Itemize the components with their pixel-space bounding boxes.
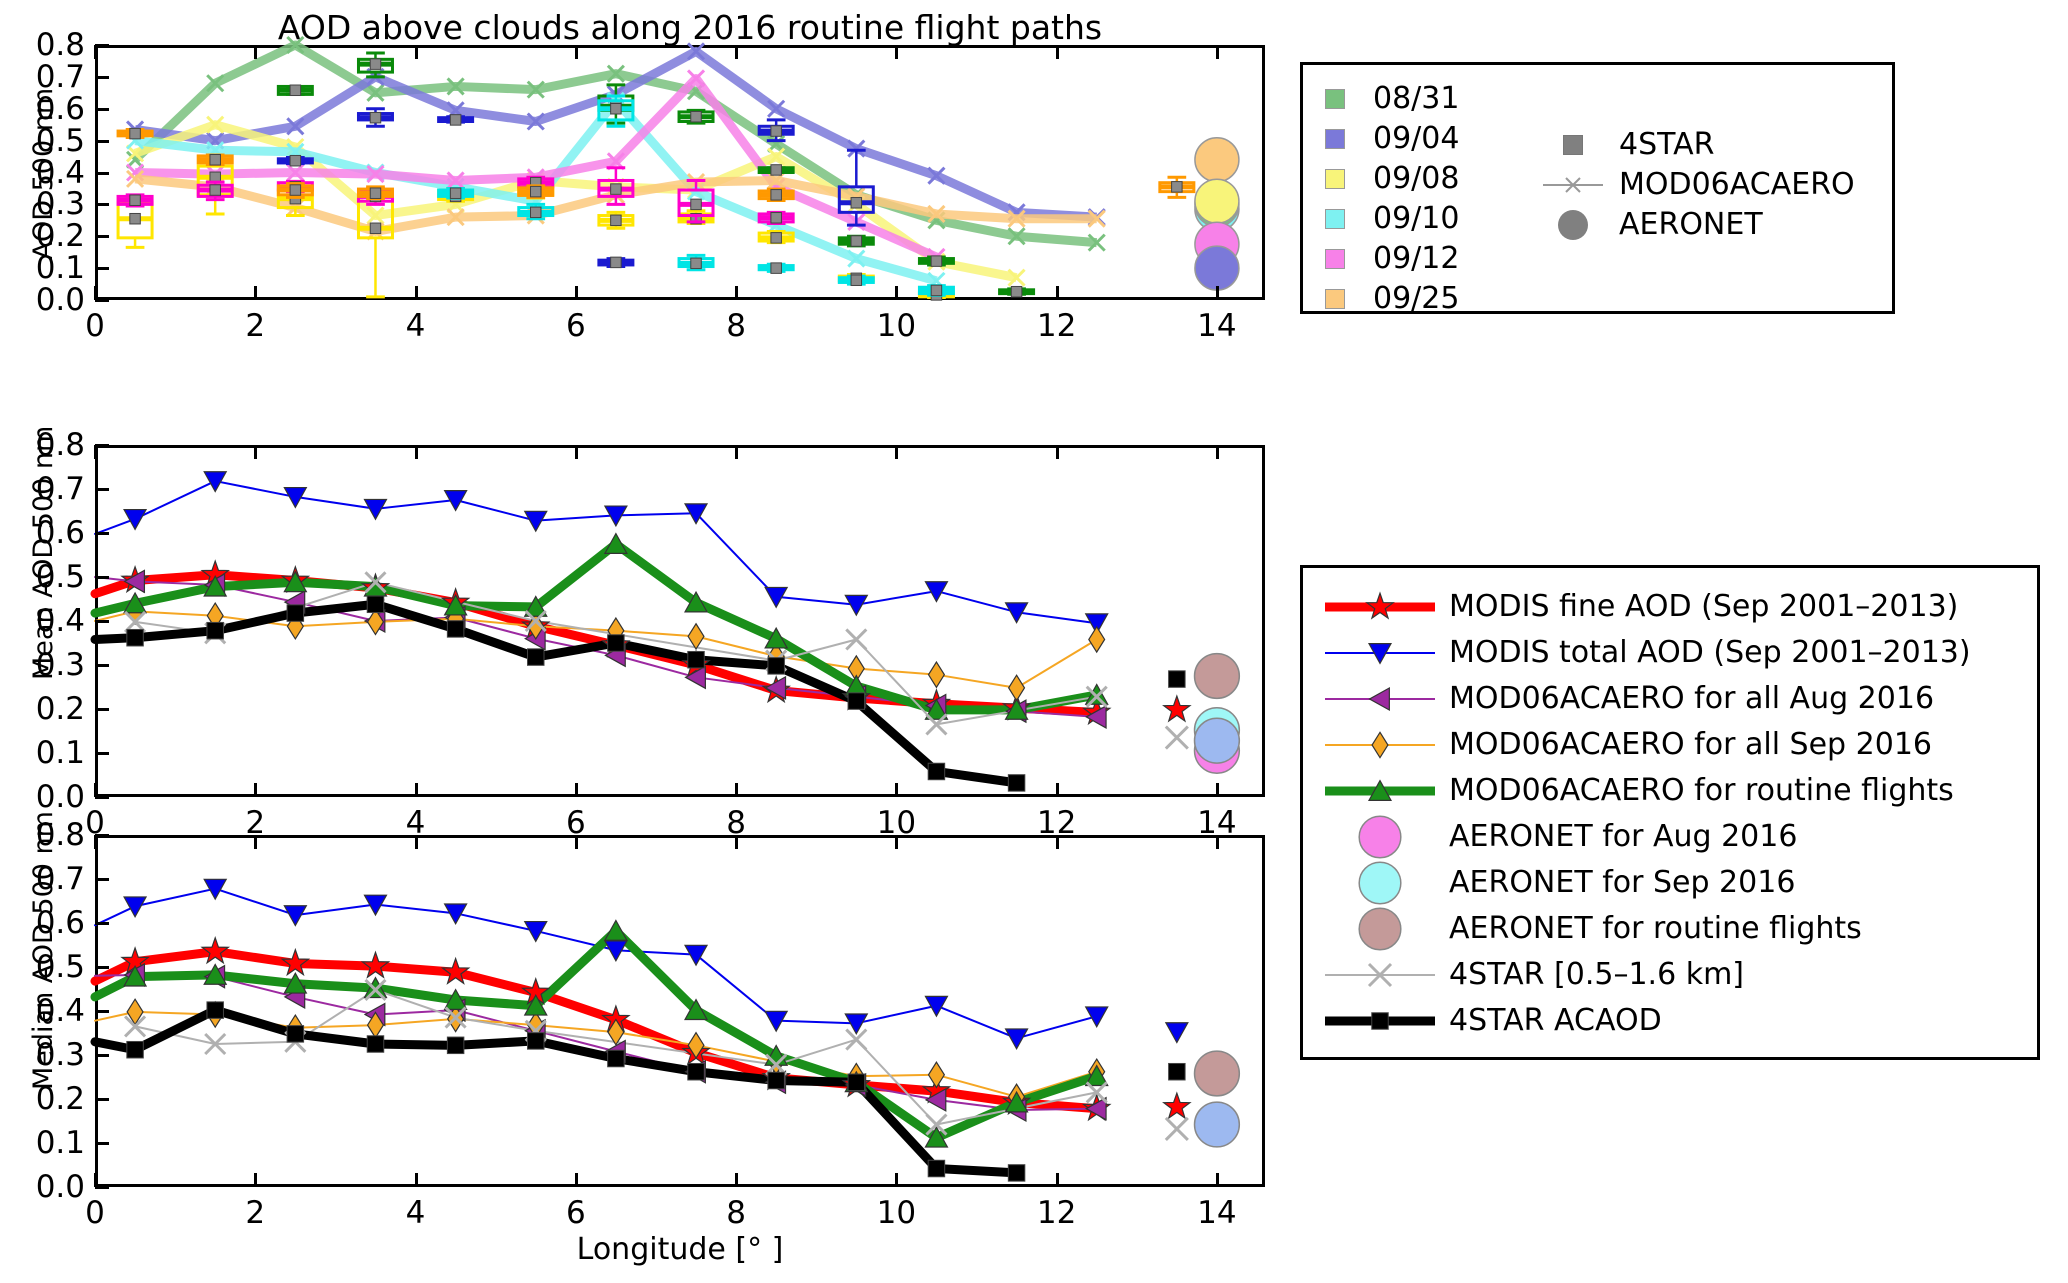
x-tick-mark <box>415 286 418 300</box>
y-tick-mark <box>95 44 109 47</box>
legend-dates-box: 08/3109/0409/0809/1009/1209/25 4STARMOD0… <box>1300 62 1895 314</box>
legend-main-label: 4STAR [0.5–1.6 km] <box>1449 960 1744 990</box>
legend-date-item[interactable]: 09/08 <box>1325 159 1459 199</box>
x-tick-label: 6 <box>566 1195 586 1231</box>
panel-b-ylabel: Mean AOD 500 nm <box>28 426 59 680</box>
legend-color-swatch <box>1325 169 1345 189</box>
y-tick-label: 0.5 <box>5 123 85 159</box>
x-tick-label: 10 <box>877 1195 916 1231</box>
y-tick-label: 0.3 <box>5 1037 85 1073</box>
legend-main-label: MODIS total AOD (Sep 2001–2013) <box>1449 638 1971 668</box>
y-tick-mark <box>95 1142 109 1145</box>
x-tick-mark <box>1056 1173 1059 1187</box>
y-tick-mark <box>95 1186 109 1189</box>
y-tick-mark <box>95 796 109 799</box>
legend-main-item[interactable]: MOD06ACAERO for routine flights <box>1321 768 1971 814</box>
y-tick-mark <box>95 1054 109 1057</box>
legend-date-label: 09/10 <box>1373 204 1459 234</box>
x-tick-label: 2 <box>245 1195 265 1231</box>
y-tick-mark <box>95 664 109 667</box>
x-tick-mark <box>254 286 257 300</box>
x-tick-label: 14 <box>1197 1195 1236 1231</box>
x-tick-label: 8 <box>726 1195 746 1231</box>
y-tick-label: 0.1 <box>5 735 85 771</box>
y-tick-label: 0.0 <box>5 779 85 815</box>
x-tick-mark <box>895 445 898 459</box>
x-tick-mark <box>415 445 418 459</box>
x-tick-mark <box>575 783 578 797</box>
y-tick-mark <box>95 532 109 535</box>
x-tick-mark <box>575 45 578 59</box>
x-tick-mark <box>94 835 97 849</box>
y-tick-label: 0.3 <box>5 647 85 683</box>
legend-main-item[interactable]: MODIS fine AOD (Sep 2001–2013) <box>1321 584 1971 630</box>
y-tick-label: 0.5 <box>5 559 85 595</box>
x-tick-mark <box>415 835 418 849</box>
x-tick-label: 14 <box>1197 308 1236 344</box>
y-tick-label: 0.1 <box>5 1125 85 1161</box>
legend-instruments-column: 4STARMOD06ACAEROAERONET <box>1541 125 1855 245</box>
y-tick-mark <box>95 108 109 111</box>
y-tick-label: 0.2 <box>5 691 85 727</box>
legend-dates-column: 08/3109/0409/0809/1009/1209/25 <box>1325 79 1459 319</box>
y-tick-mark <box>95 834 109 837</box>
circle-marker-icon <box>1321 866 1439 900</box>
y-tick-mark <box>95 620 109 623</box>
y-tick-mark <box>95 922 109 925</box>
x-tick-mark <box>735 445 738 459</box>
diamond-marker-icon <box>1321 728 1439 762</box>
x-tick-mark <box>575 835 578 849</box>
panel-a-canvas <box>95 45 1265 300</box>
x-tick-mark <box>735 783 738 797</box>
star-marker-icon <box>1321 590 1439 624</box>
y-tick-label: 0.2 <box>5 1081 85 1117</box>
x-line-marker-icon <box>1541 175 1605 195</box>
x-tick-mark <box>895 286 898 300</box>
y-tick-mark <box>95 752 109 755</box>
legend-date-label: 09/25 <box>1373 284 1459 314</box>
triangle-up-marker-icon <box>1321 774 1439 808</box>
legend-main-item[interactable]: MOD06ACAERO for all Aug 2016 <box>1321 676 1971 722</box>
legend-color-swatch <box>1325 89 1345 109</box>
panel-b-canvas <box>95 445 1265 797</box>
legend-instrument-item[interactable]: MOD06ACAERO <box>1541 165 1855 205</box>
legend-date-label: 09/04 <box>1373 124 1459 154</box>
x-tick-label: 2 <box>245 308 265 344</box>
legend-color-swatch <box>1325 249 1345 269</box>
y-tick-label: 0.6 <box>5 91 85 127</box>
triangle-left-marker-icon <box>1321 682 1439 716</box>
legend-color-swatch <box>1325 209 1345 229</box>
x-tick-mark <box>1216 835 1219 849</box>
y-tick-mark <box>95 203 109 206</box>
x-tick-label: 0 <box>85 1195 105 1231</box>
legend-date-item[interactable]: 09/12 <box>1325 239 1459 279</box>
y-tick-label: 0.7 <box>5 59 85 95</box>
legend-main-item[interactable]: MODIS total AOD (Sep 2001–2013) <box>1321 630 1971 676</box>
legend-main-item[interactable]: AERONET for Sep 2016 <box>1321 860 1971 906</box>
legend-date-label: 09/12 <box>1373 244 1459 274</box>
x-marker-icon <box>1321 958 1439 992</box>
y-tick-mark <box>95 76 109 79</box>
x-tick-mark <box>895 45 898 59</box>
legend-date-item[interactable]: 08/31 <box>1325 79 1459 119</box>
x-tick-mark <box>735 45 738 59</box>
y-tick-mark <box>95 708 109 711</box>
y-tick-mark <box>95 235 109 238</box>
y-tick-mark <box>95 299 109 302</box>
legend-main-label: MOD06ACAERO for routine flights <box>1449 776 1954 806</box>
figure-root: AOD above clouds along 2016 routine flig… <box>0 0 2068 1283</box>
x-tick-label: 12 <box>1037 1195 1076 1231</box>
x-tick-label: 4 <box>406 1195 426 1231</box>
x-tick-mark <box>1056 835 1059 849</box>
legend-main-label: AERONET for Sep 2016 <box>1449 868 1795 898</box>
figure-title: AOD above clouds along 2016 routine flig… <box>110 8 1270 47</box>
circle-marker-icon <box>1321 820 1439 854</box>
y-tick-label: 0.6 <box>5 905 85 941</box>
x-tick-mark <box>1216 286 1219 300</box>
x-tick-mark <box>415 783 418 797</box>
legend-main-label: 4STAR ACAOD <box>1449 1006 1662 1036</box>
legend-main-label: AERONET for routine flights <box>1449 914 1862 944</box>
x-tick-mark <box>895 783 898 797</box>
x-tick-label: 0 <box>85 308 105 344</box>
y-tick-mark <box>95 878 109 881</box>
circle-marker-icon <box>1541 210 1605 240</box>
x-tick-mark <box>94 45 97 59</box>
y-tick-mark <box>95 1010 109 1013</box>
legend-main-list: MODIS fine AOD (Sep 2001–2013)MODIS tota… <box>1321 584 1971 1044</box>
x-tick-mark <box>1056 783 1059 797</box>
y-tick-label: 0.6 <box>5 515 85 551</box>
legend-instrument-item[interactable]: 4STAR <box>1541 125 1855 165</box>
legend-instrument-item[interactable]: AERONET <box>1541 205 1855 245</box>
x-tick-label: 4 <box>406 308 426 344</box>
legend-instrument-label: 4STAR <box>1619 130 1715 160</box>
x-tick-mark <box>895 1173 898 1187</box>
y-tick-label: 0.0 <box>5 1169 85 1205</box>
triangle-down-marker-icon <box>1321 636 1439 670</box>
x-tick-mark <box>1056 286 1059 300</box>
y-tick-label: 0.8 <box>5 27 85 63</box>
x-tick-mark <box>254 835 257 849</box>
y-tick-label: 0.8 <box>5 427 85 463</box>
y-tick-label: 0.7 <box>5 471 85 507</box>
panel-c-canvas <box>95 835 1265 1187</box>
y-tick-mark <box>95 966 109 969</box>
y-tick-mark <box>95 444 109 447</box>
legend-main-item[interactable]: AERONET for Aug 2016 <box>1321 814 1971 860</box>
y-tick-label: 0.3 <box>5 186 85 222</box>
x-tick-mark <box>1216 45 1219 59</box>
y-tick-label: 0.4 <box>5 155 85 191</box>
circle-marker-icon <box>1321 912 1439 946</box>
legend-main-label: AERONET for Aug 2016 <box>1449 822 1797 852</box>
x-tick-label: 6 <box>566 308 586 344</box>
x-tick-mark <box>94 783 97 797</box>
legend-main-item[interactable]: MOD06ACAERO for all Sep 2016 <box>1321 722 1971 768</box>
x-tick-mark <box>1216 783 1219 797</box>
x-tick-mark <box>1216 445 1219 459</box>
legend-main-label: MOD06ACAERO for all Sep 2016 <box>1449 730 1932 760</box>
legend-main-item[interactable]: 4STAR [0.5–1.6 km] <box>1321 952 1971 998</box>
y-tick-label: 0.2 <box>5 218 85 254</box>
legend-color-swatch <box>1325 129 1345 149</box>
x-tick-mark <box>415 1173 418 1187</box>
x-tick-mark <box>735 835 738 849</box>
y-tick-mark <box>95 172 109 175</box>
square-marker-icon <box>1321 1004 1439 1038</box>
x-tick-mark <box>94 286 97 300</box>
legend-instrument-label: MOD06ACAERO <box>1619 170 1855 200</box>
legend-date-item[interactable]: 09/10 <box>1325 199 1459 239</box>
legend-main-item[interactable]: AERONET for routine flights <box>1321 906 1971 952</box>
legend-main-label: MODIS fine AOD (Sep 2001–2013) <box>1449 592 1958 622</box>
x-tick-label: 10 <box>877 308 916 344</box>
y-tick-mark <box>95 140 109 143</box>
y-tick-label: 0.5 <box>5 949 85 985</box>
x-tick-label: 12 <box>1037 308 1076 344</box>
legend-main-box: MODIS fine AOD (Sep 2001–2013)MODIS tota… <box>1300 565 2040 1060</box>
legend-date-item[interactable]: 09/04 <box>1325 119 1459 159</box>
y-tick-label: 0.0 <box>5 282 85 318</box>
y-tick-label: 0.8 <box>5 817 85 853</box>
x-tick-mark <box>735 286 738 300</box>
x-tick-mark <box>575 445 578 459</box>
x-tick-label: 8 <box>726 308 746 344</box>
x-tick-mark <box>895 835 898 849</box>
x-tick-mark <box>254 783 257 797</box>
legend-main-label: MOD06ACAERO for all Aug 2016 <box>1449 684 1934 714</box>
legend-main-item[interactable]: 4STAR ACAOD <box>1321 998 1971 1044</box>
y-tick-label: 0.4 <box>5 993 85 1029</box>
square-marker-icon <box>1541 135 1605 155</box>
x-tick-mark <box>254 1173 257 1187</box>
legend-color-swatch <box>1325 289 1345 309</box>
x-tick-mark <box>254 45 257 59</box>
x-tick-mark <box>575 286 578 300</box>
legend-date-label: 09/08 <box>1373 164 1459 194</box>
y-tick-mark <box>95 576 109 579</box>
x-tick-mark <box>575 1173 578 1187</box>
x-axis-title: Longitude [° ] <box>480 1232 880 1267</box>
x-tick-mark <box>415 45 418 59</box>
legend-instrument-label: AERONET <box>1619 210 1763 240</box>
x-tick-mark <box>94 1173 97 1187</box>
legend-date-item[interactable]: 09/25 <box>1325 279 1459 319</box>
x-tick-mark <box>1216 1173 1219 1187</box>
x-tick-mark <box>1056 445 1059 459</box>
y-tick-label: 0.4 <box>5 603 85 639</box>
y-tick-label: 0.1 <box>5 250 85 286</box>
y-tick-mark <box>95 488 109 491</box>
y-tick-mark <box>95 267 109 270</box>
x-tick-mark <box>94 445 97 459</box>
x-tick-mark <box>735 1173 738 1187</box>
y-tick-mark <box>95 1098 109 1101</box>
y-tick-label: 0.7 <box>5 861 85 897</box>
x-tick-mark <box>1056 45 1059 59</box>
legend-date-label: 08/31 <box>1373 84 1459 114</box>
x-tick-mark <box>254 445 257 459</box>
